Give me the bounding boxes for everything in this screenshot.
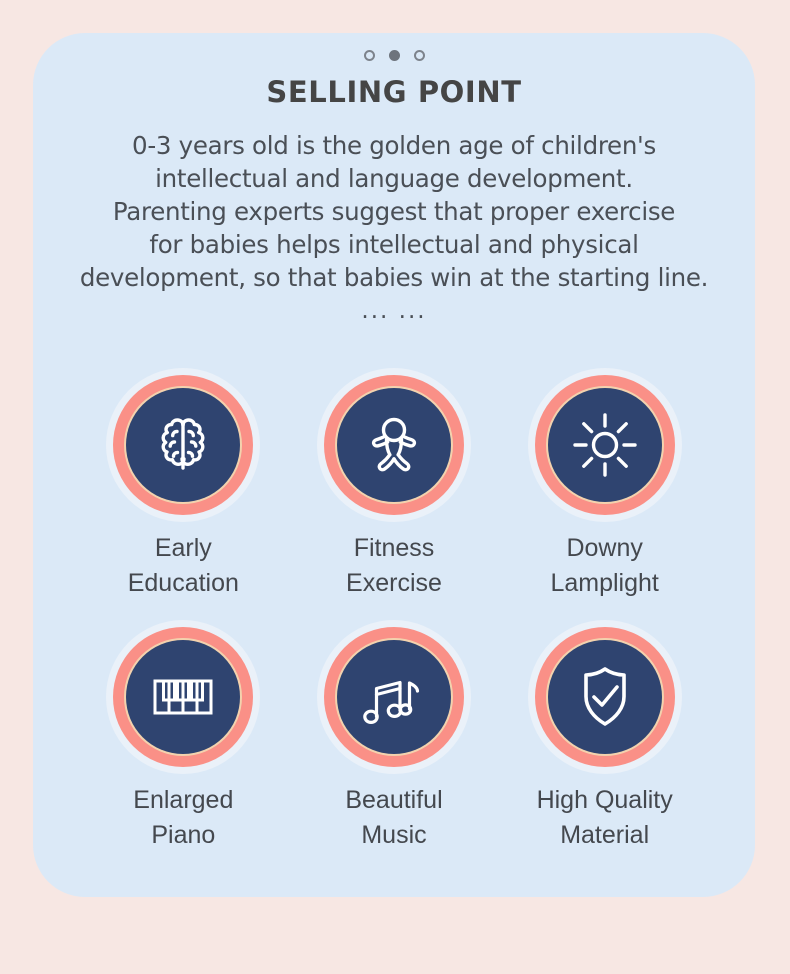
feature-label-line: Fitness — [346, 531, 442, 566]
feature-label-line: Music — [345, 818, 442, 853]
feature-label-line: Lamplight — [550, 566, 658, 601]
badge-core — [548, 388, 662, 502]
description-line-2: intellectual and language development. — [55, 162, 733, 195]
music-notes-icon — [358, 661, 430, 733]
feature-item-downy-lamplight[interactable]: Downy Lamplight — [499, 375, 710, 601]
feature-badge-downy-lamplight[interactable] — [535, 375, 675, 515]
feature-item-high-quality-material[interactable]: High Quality Material — [499, 627, 710, 853]
feature-label-line: Enlarged — [133, 783, 233, 818]
feature-label-line: Downy — [550, 531, 658, 566]
feature-label-line: High Quality — [537, 783, 673, 818]
description-line-1: 0-3 years old is the golden age of child… — [55, 129, 733, 162]
description-line-5: development, so that babies win at the s… — [55, 261, 733, 294]
piano-keys-icon — [147, 661, 219, 733]
badge-core — [337, 640, 451, 754]
feature-badge-fitness-exercise[interactable] — [324, 375, 464, 515]
pager-dot-3[interactable] — [414, 50, 425, 61]
description-line-3: Parenting experts suggest that proper ex… — [55, 195, 733, 228]
badge-core — [337, 388, 451, 502]
feature-grid: Early Education — [78, 375, 710, 853]
badge-core — [126, 388, 240, 502]
feature-label-line: Piano — [133, 818, 233, 853]
feature-label-line: Education — [128, 566, 239, 601]
badge-core — [126, 640, 240, 754]
description-ellipsis: ... ... — [55, 298, 733, 324]
promo-card: SELLING POINT 0-3 years old is the golde… — [33, 33, 755, 897]
feature-label-enlarged-piano: Enlarged Piano — [133, 783, 233, 853]
description-line-4: for babies helps intellectual and physic… — [55, 228, 733, 261]
feature-label-line: Exercise — [346, 566, 442, 601]
baby-exercise-icon — [358, 409, 430, 481]
pager-dots — [33, 45, 755, 65]
feature-item-beautiful-music[interactable]: Beautiful Music — [289, 627, 500, 853]
feature-label-line: Beautiful — [345, 783, 442, 818]
sun-icon — [569, 409, 641, 481]
feature-label-line: Material — [537, 818, 673, 853]
feature-item-early-education[interactable]: Early Education — [78, 375, 289, 601]
brain-icon — [147, 409, 219, 481]
pager-dot-1[interactable] — [364, 50, 375, 61]
badge-core — [548, 640, 662, 754]
feature-label-early-education: Early Education — [128, 531, 239, 601]
feature-label-fitness-exercise: Fitness Exercise — [346, 531, 442, 601]
feature-badge-beautiful-music[interactable] — [324, 627, 464, 767]
feature-item-fitness-exercise[interactable]: Fitness Exercise — [289, 375, 500, 601]
shield-check-icon — [569, 661, 641, 733]
feature-label-line: Early — [128, 531, 239, 566]
feature-label-beautiful-music: Beautiful Music — [345, 783, 442, 853]
pager-dot-2[interactable] — [389, 50, 400, 61]
feature-badge-early-education[interactable] — [113, 375, 253, 515]
feature-badge-high-quality-material[interactable] — [535, 627, 675, 767]
selling-description: 0-3 years old is the golden age of child… — [55, 129, 733, 294]
feature-badge-enlarged-piano[interactable] — [113, 627, 253, 767]
feature-label-high-quality-material: High Quality Material — [537, 783, 673, 853]
feature-item-enlarged-piano[interactable]: Enlarged Piano — [78, 627, 289, 853]
feature-label-downy-lamplight: Downy Lamplight — [550, 531, 658, 601]
page-title: SELLING POINT — [33, 75, 755, 109]
